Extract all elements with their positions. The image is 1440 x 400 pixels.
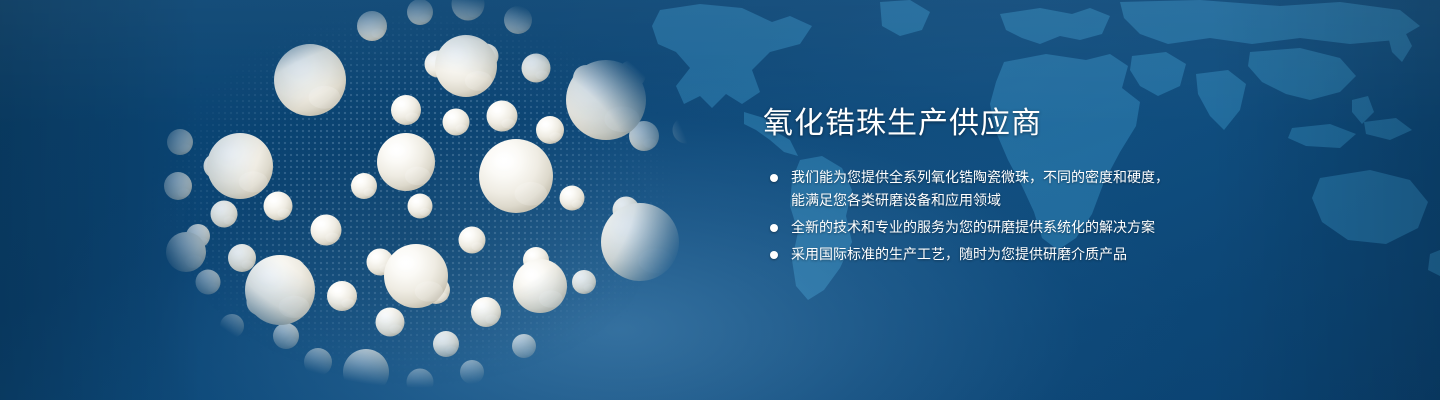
bullet-text-3-line1: 采用国际标准的生产工艺，随时为您提供研磨介质产品	[791, 246, 1127, 262]
banner-headline: 氧化锆珠生产供应商	[763, 104, 1323, 144]
zirconia-beads-photo	[120, 0, 720, 400]
bullet-dot-icon	[770, 251, 778, 259]
beads-illustration	[120, 0, 720, 400]
bullet-item-1: 我们能为您提供全系列氧化锆陶瓷微珠，不同的密度和硬度， 能满足您各类研磨设备和应…	[763, 166, 1323, 212]
hero-banner: 氧化锆珠生产供应商 我们能为您提供全系列氧化锆陶瓷微珠，不同的密度和硬度， 能满…	[0, 0, 1440, 400]
bullet-text-2-line1: 全新的技术和专业的服务为您的研磨提供系统化的解决方案	[791, 219, 1155, 235]
bullet-item-2: 全新的技术和专业的服务为您的研磨提供系统化的解决方案	[763, 216, 1323, 239]
bullet-item-3: 采用国际标准的生产工艺，随时为您提供研磨介质产品	[763, 243, 1323, 266]
bullet-dot-icon	[770, 224, 778, 232]
banner-copy: 氧化锆珠生产供应商 我们能为您提供全系列氧化锆陶瓷微珠，不同的密度和硬度， 能满…	[763, 104, 1323, 270]
bullet-dot-icon	[770, 174, 778, 182]
bullet-text-1-line1: 我们能为您提供全系列氧化锆陶瓷微珠，不同的密度和硬度，	[791, 169, 1169, 185]
bullet-text-1-line2: 能满足您各类研磨设备和应用领域	[791, 189, 1323, 212]
banner-bullet-list: 我们能为您提供全系列氧化锆陶瓷微珠，不同的密度和硬度， 能满足您各类研磨设备和应…	[763, 166, 1323, 266]
